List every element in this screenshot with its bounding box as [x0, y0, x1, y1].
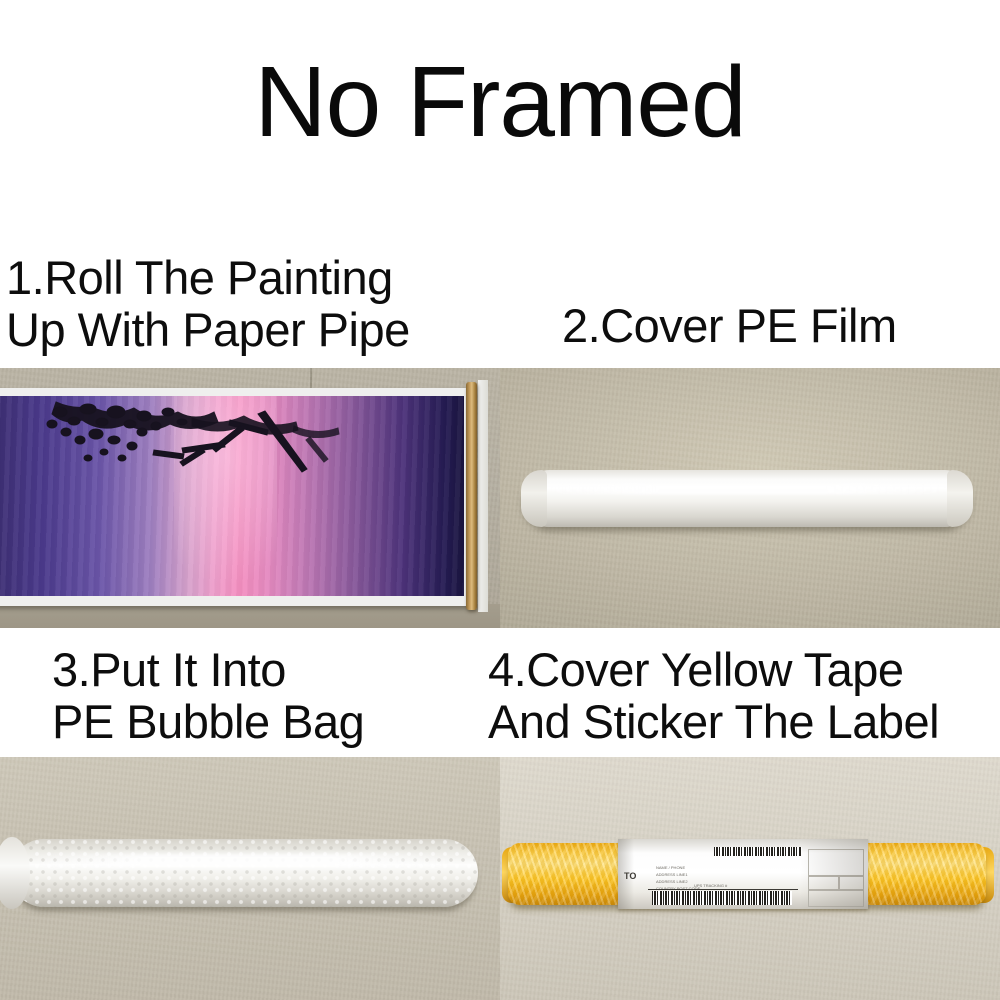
label-left-shading	[618, 839, 634, 909]
bubble-bag-highlight	[33, 854, 454, 867]
rolled-canvas	[0, 388, 476, 606]
pe-film-roll	[521, 470, 973, 527]
label-field-3: ADDRESS LINE2	[656, 879, 688, 884]
shipping-label: TO NAME / PHONE ADDRESS LINE1 ADDRESS LI…	[618, 839, 868, 909]
packaging-steps-infographic: No Framed 1.Roll The Painting Up With Pa…	[0, 0, 1000, 1000]
label-field-2: ADDRESS LINE1	[656, 872, 688, 877]
label-field-1: NAME / PHONE	[656, 865, 685, 870]
step-3-photo	[0, 757, 500, 1000]
step-4-photo: TO NAME / PHONE ADDRESS LINE1 ADDRESS LI…	[500, 757, 1000, 1000]
label-barcode-top	[714, 847, 802, 856]
step-4-caption: 4.Cover Yellow Tape And Sticker The Labe…	[488, 644, 939, 748]
bubble-wrap-texture	[10, 839, 478, 907]
painting-artwork	[0, 396, 464, 596]
tree-branch-silhouette	[0, 396, 464, 596]
label-barcode-bottom	[652, 891, 792, 905]
label-right-shading	[800, 839, 868, 909]
pe-film-roll-right-end	[947, 470, 973, 527]
step-1-photo	[0, 368, 500, 628]
step-2-photo	[500, 368, 1000, 628]
label-tracking-text: UPS TRACKING #	[694, 883, 727, 888]
paper-pipe	[466, 382, 477, 610]
label-divider	[648, 889, 798, 890]
floor-shadow	[0, 604, 500, 628]
canvas-edge-strip	[478, 380, 488, 612]
bubble-bag-roll	[10, 839, 478, 907]
pe-film-roll-left-end	[521, 470, 547, 527]
step-2-caption: 2.Cover PE Film	[562, 300, 897, 352]
step-1-caption: 1.Roll The Painting Up With Paper Pipe	[6, 252, 410, 356]
page-title: No Framed	[0, 48, 1000, 156]
step-3-caption: 3.Put It Into PE Bubble Bag	[52, 644, 364, 748]
